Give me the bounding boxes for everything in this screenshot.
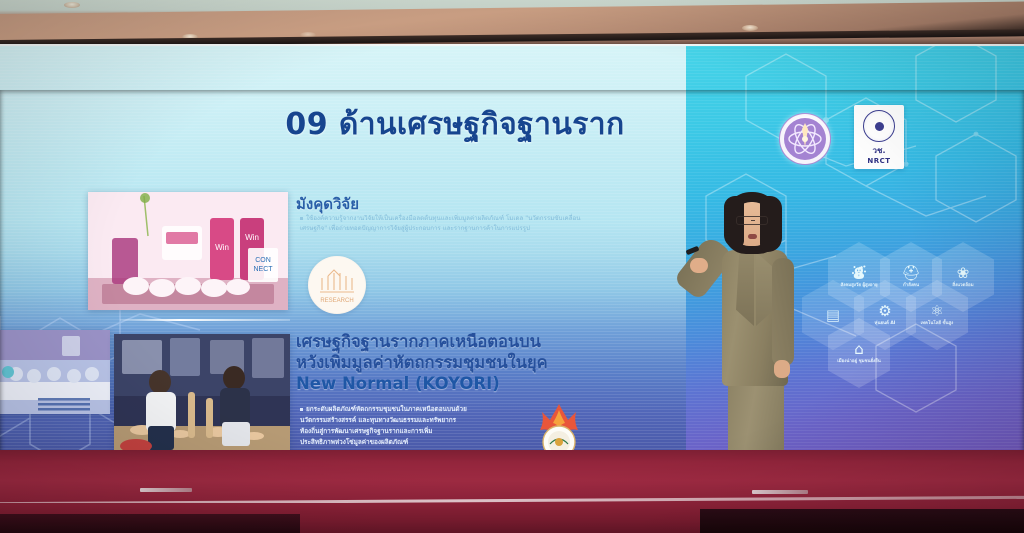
section2-heading-line-1: เศรษฐกิจฐานรากภาคเหนือตอนบน (296, 331, 616, 352)
svg-text:Win: Win (245, 233, 259, 242)
ai-gear-bulb-icon: ⚙ (878, 304, 891, 319)
section2-body-line-1: ยกระดับผลิตภัณฑ์หัตถกรรมชุมชนในภาคเหนือต… (306, 405, 467, 413)
hex-label-5: เมืองน่าอยู่ ชุมชนยั่งยืน (837, 359, 881, 365)
section2-heading-line-3: New Normal (KOYORI) (296, 373, 616, 394)
slide-title: 09 ด้านเศรษฐกิจฐานราก (240, 108, 670, 141)
section1-body-line-1: ใช้องค์ความรู้จากงานวิจัยให้เป็นเครื่องม… (306, 215, 580, 222)
section2-body-line-3: ท้องถิ่นสู่การพัฒนาเศรษฐกิจฐานรากและการเ… (300, 427, 433, 435)
presenter-skirt (728, 378, 784, 454)
downlight-icon (64, 2, 80, 8)
glasses-icon (736, 216, 768, 225)
molecule-network-icon: ⚛ (930, 304, 943, 319)
floor-marker-tape (752, 490, 808, 494)
section1-heading: มังคุดวิจัย (296, 192, 359, 216)
hex-icon-grid: ⛇ สังคมสูงวัย ผู้สูงอายุ ⛑ กำลังคน ❀ สิ่… (806, 242, 1016, 392)
section1-body-line-2: เศรษฐกิจ" เพื่อถ่ายทอดปัญญาการวิจัยสู่ผู… (300, 225, 530, 232)
hex-label-1: กำลังคน (903, 283, 919, 289)
presenter (686, 192, 836, 454)
elderly-person-icon: ⛇ (851, 266, 866, 281)
nrct-label-en: NRCT (867, 157, 890, 165)
photo-artisans (114, 334, 290, 454)
presenter-left-hand (690, 258, 708, 273)
floor-marker-tape (140, 488, 192, 492)
hand-plant-icon: ❀ (957, 266, 970, 281)
svg-text:NECT: NECT (253, 266, 273, 273)
mangosteen-seal-icon: RESEARCH (308, 256, 366, 314)
hex-label-2: สิ่งแวดล้อม (952, 283, 973, 289)
nrct-label-th: วช. (873, 144, 886, 157)
stage-scene: 09 ด้านเศรษฐกิจฐานราก CON NECT Win Wi (0, 0, 1024, 533)
section2-body: ยกระดับผลิตภัณฑ์หัตถกรรมชุมชนในภาคเหนือต… (300, 404, 550, 448)
product-photo-content: CON NECT Win Win (88, 192, 288, 310)
presenter-mouth (748, 234, 757, 239)
section2-body-line-2: นวัตกรรมสร้างสรรค์ และทุนทางวัฒนธรรมและท… (300, 416, 456, 424)
ceiling (0, 0, 1024, 46)
stage-shadow-right (700, 509, 1024, 533)
stage-floor (0, 450, 1024, 506)
svg-text:CON: CON (255, 257, 271, 264)
hex-label-4: เทคโนโลยี ขั้นสูง (921, 321, 954, 327)
section2-heading: เศรษฐกิจฐานรากภาคเหนือตอนบน หวังเพิ่มมูล… (296, 331, 616, 394)
atom-emblem-icon (779, 113, 831, 165)
hex-label-3: หุ่นยนต์ AI (875, 321, 896, 327)
bullet-icon (300, 217, 303, 220)
bullet-icon (300, 408, 303, 411)
presenter-right-hand (774, 360, 790, 378)
section1-body: ใช้องค์ความรู้จากงานวิจัยให้เป็นเครื่องม… (300, 214, 600, 234)
city-building-icon: ⌂ (854, 342, 864, 357)
svg-text:RESEARCH: RESEARCH (320, 298, 353, 304)
helmet-person-icon: ⛑ (901, 266, 920, 281)
photo-product: CON NECT Win Win (88, 192, 288, 310)
nrct-logo: วช. NRCT (854, 105, 904, 169)
section-divider (120, 319, 290, 321)
led-presentation-screen: 09 ด้านเศรษฐกิจฐานราก CON NECT Win Wi (0, 46, 1024, 454)
presenter-right-arm (772, 258, 794, 366)
photo-market (0, 330, 110, 414)
section2-heading-line-2: หวังเพิ่มมูลค่าหัตถกรรมชุมชนในยุค (296, 352, 616, 373)
stage-shadow-left (0, 514, 300, 533)
downlight-icon (742, 25, 758, 31)
nrct-emblem-icon (863, 110, 895, 142)
svg-text:Win: Win (215, 243, 229, 252)
section2-body-line-4: ประสิทธิภาพห่วงโซ่มูลค่าของผลิตภัณฑ์ (300, 438, 408, 446)
royal-flame-emblem-icon (528, 402, 590, 454)
